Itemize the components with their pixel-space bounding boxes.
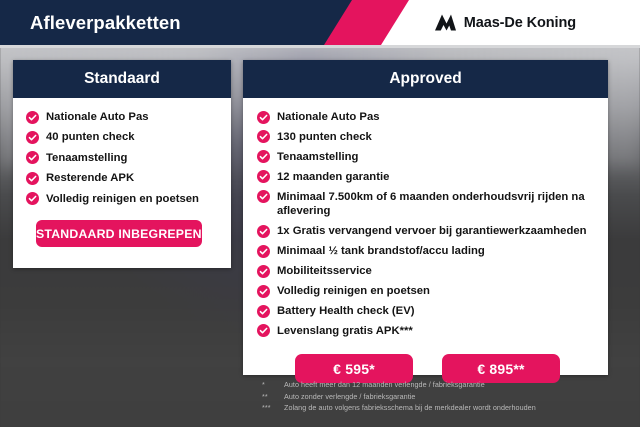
feature-label: Minimaal 7.500km of 6 maanden onderhouds… — [277, 190, 598, 219]
list-item: Volledig reinigen en poetsen — [26, 192, 221, 206]
page-header: Afleverpakketten Maas-De Koning — [0, 0, 640, 45]
list-item: Tenaamstelling — [26, 151, 221, 165]
check-circle-icon — [257, 265, 270, 278]
list-item: Levenslang gratis APK*** — [257, 324, 598, 338]
list-item: Tenaamstelling — [257, 150, 598, 164]
list-item: 12 maanden garantie — [257, 170, 598, 184]
card-title-approved: Approved — [243, 60, 608, 98]
package-card-approved: Approved Nationale Auto Pas 130 punten c… — [243, 60, 608, 375]
check-circle-icon — [257, 190, 270, 203]
check-circle-icon — [257, 245, 270, 258]
check-circle-icon — [257, 305, 270, 318]
feature-list-approved: Nationale Auto Pas 130 punten check Tena… — [257, 110, 598, 338]
list-item: Mobiliteitsservice — [257, 264, 598, 278]
list-item: Minimaal ½ tank brandstof/accu lading — [257, 244, 598, 258]
check-circle-icon — [257, 150, 270, 163]
check-circle-icon — [257, 285, 270, 298]
check-circle-icon — [257, 170, 270, 183]
footnote-text: Auto zonder verlengde / fabrieksgarantie — [284, 391, 415, 403]
check-circle-icon — [26, 111, 39, 124]
feature-label: Tenaamstelling — [46, 151, 127, 165]
list-item: Resterende APK — [26, 171, 221, 185]
card-title-standard: Standaard — [13, 60, 231, 98]
list-item: Minimaal 7.500km of 6 maanden onderhouds… — [257, 190, 598, 219]
list-item: Battery Health check (EV) — [257, 304, 598, 318]
list-item: 1x Gratis vervangend vervoer bij garanti… — [257, 224, 598, 238]
footnote-text: Zolang de auto volgens fabrieksschema bi… — [284, 402, 536, 414]
feature-label: Volledig reinigen en poetsen — [46, 192, 199, 206]
feature-label: Battery Health check (EV) — [277, 304, 415, 318]
feature-label: Resterende APK — [46, 171, 134, 185]
footnote-item: ** Auto zonder verlengde / fabrieksgaran… — [262, 391, 536, 403]
list-item: 130 punten check — [257, 130, 598, 144]
footnote-item: *** Zolang de auto volgens fabrieksschem… — [262, 402, 536, 414]
feature-label: Tenaamstelling — [277, 150, 358, 164]
maas-de-koning-m-logo-icon — [434, 14, 457, 31]
feature-label: Mobiliteitsservice — [277, 264, 372, 278]
feature-label: Nationale Auto Pas — [277, 110, 380, 124]
list-item: 40 punten check — [26, 130, 221, 144]
feature-label: Minimaal ½ tank brandstof/accu lading — [277, 244, 485, 258]
feature-label: Nationale Auto Pas — [46, 110, 149, 124]
card-body-approved: Nationale Auto Pas 130 punten check Tena… — [243, 98, 608, 383]
check-circle-icon — [257, 130, 270, 143]
page-title: Afleverpakketten — [30, 0, 181, 45]
check-circle-icon — [26, 192, 39, 205]
feature-label: 130 punten check — [277, 130, 372, 144]
feature-label: 1x Gratis vervangend vervoer bij garanti… — [277, 224, 587, 238]
header-divider — [0, 45, 640, 48]
check-circle-icon — [26, 172, 39, 185]
feature-label: 12 maanden garantie — [277, 170, 389, 184]
footnote-marker: *** — [262, 402, 284, 414]
footnote-marker: * — [262, 379, 284, 391]
check-circle-icon — [257, 324, 270, 337]
list-item: Volledig reinigen en poetsen — [257, 284, 598, 298]
brand-logo: Maas-De Koning — [434, 0, 576, 45]
check-circle-icon — [257, 111, 270, 124]
list-item: Nationale Auto Pas — [257, 110, 598, 124]
standard-included-button[interactable]: STANDAARD INBEGREPEN — [36, 220, 202, 247]
feature-label: Levenslang gratis APK*** — [277, 324, 413, 338]
brand-name: Maas-De Koning — [464, 15, 576, 31]
feature-list-standard: Nationale Auto Pas 40 punten check Tenaa… — [26, 110, 221, 206]
package-card-standard: Standaard Nationale Auto Pas 40 punten c… — [13, 60, 231, 268]
footnote-marker: ** — [262, 391, 284, 403]
footnote-text: Auto heeft meer dan 12 maanden verlengde… — [284, 379, 485, 391]
card-body-standard: Nationale Auto Pas 40 punten check Tenaa… — [13, 98, 231, 247]
list-item: Nationale Auto Pas — [26, 110, 221, 124]
feature-label: 40 punten check — [46, 130, 135, 144]
feature-label: Volledig reinigen en poetsen — [277, 284, 430, 298]
check-circle-icon — [257, 225, 270, 238]
footnote-item: * Auto heeft meer dan 12 maanden verleng… — [262, 379, 536, 391]
footnotes-block: * Auto heeft meer dan 12 maanden verleng… — [262, 379, 536, 414]
check-circle-icon — [26, 131, 39, 144]
check-circle-icon — [26, 151, 39, 164]
page-root: Afleverpakketten Maas-De Koning Standaar… — [0, 0, 640, 427]
